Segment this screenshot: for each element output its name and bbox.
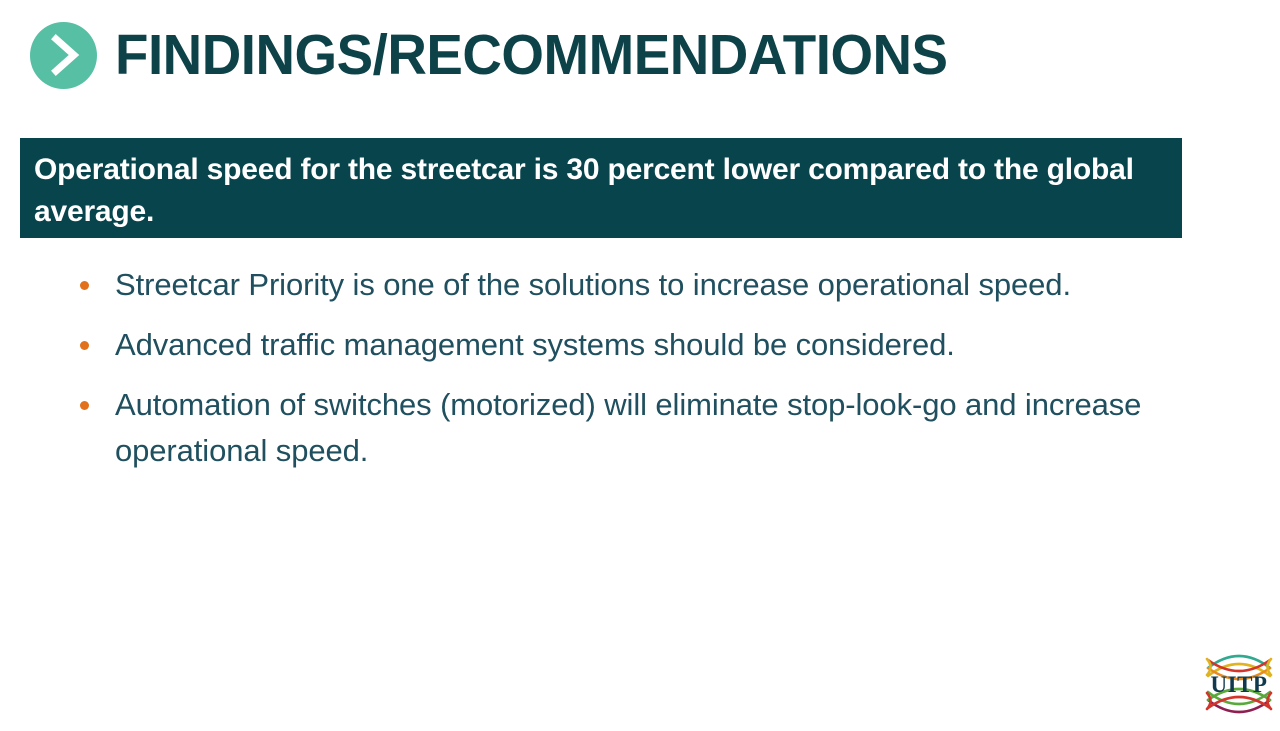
chevron-right-circle-icon (30, 22, 97, 89)
bullet-dot-icon (80, 281, 89, 290)
list-item: Advanced traffic management systems shou… (80, 322, 1190, 368)
slide-canvas: FINDINGS/RECOMMENDATIONS Operational spe… (0, 0, 1280, 731)
list-item: Streetcar Priority is one of the solutio… (80, 262, 1190, 308)
highlight-banner-text: Operational speed for the streetcar is 3… (34, 149, 1169, 233)
page-title: FINDINGS/RECOMMENDATIONS (115, 27, 948, 84)
recommendations-list: Streetcar Priority is one of the solutio… (80, 262, 1190, 488)
bullet-dot-icon (80, 341, 89, 350)
list-item-text: Automation of switches (motorized) will … (115, 382, 1190, 474)
list-item-text: Streetcar Priority is one of the solutio… (115, 262, 1071, 308)
highlight-banner: Operational speed for the streetcar is 3… (20, 138, 1182, 238)
slide-title-row: FINDINGS/RECOMMENDATIONS (30, 14, 982, 96)
bullet-dot-icon (80, 401, 89, 410)
list-item: Automation of switches (motorized) will … (80, 382, 1190, 474)
list-item-text: Advanced traffic management systems shou… (115, 322, 955, 368)
uitp-logo-text: UITP (1211, 672, 1268, 697)
uitp-logo: UITP (1204, 646, 1274, 722)
